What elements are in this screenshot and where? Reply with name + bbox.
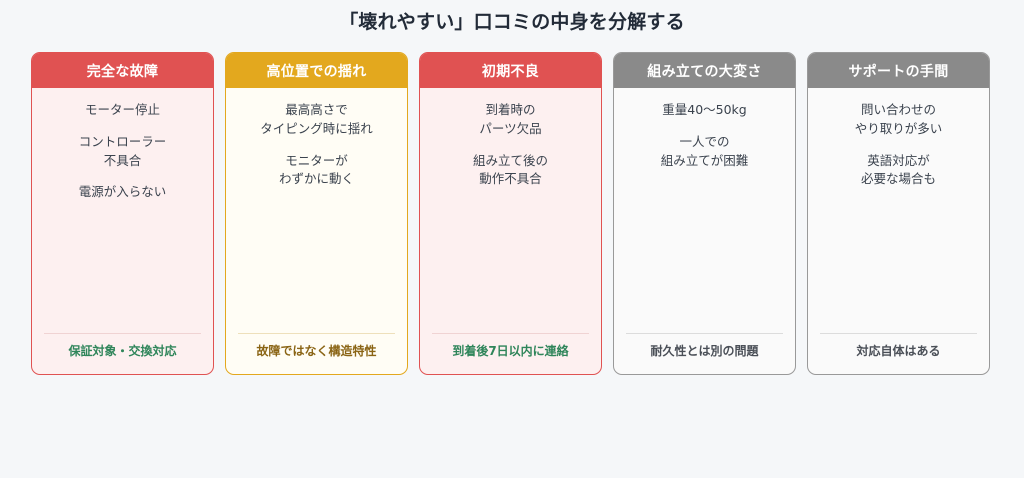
card-footer-note: 故障ではなく構造特性 bbox=[238, 333, 395, 374]
card-header-title: 高位置での揺れ bbox=[226, 53, 407, 88]
page-title: 「壊れやすい」口コミの中身を分解する bbox=[0, 0, 1024, 36]
card-item: 到着時の パーツ欠品 bbox=[479, 101, 541, 139]
category-card[interactable]: 完全な故障モーター停止コントローラー 不具合電源が入らない保証対象・交換対応 bbox=[31, 52, 214, 375]
card-body: 到着時の パーツ欠品組み立て後の 動作不具合 bbox=[420, 88, 601, 333]
card-header-title: 組み立ての大変さ bbox=[614, 53, 795, 88]
card-item: 英語対応が 必要な場合も bbox=[861, 152, 936, 190]
category-card[interactable]: サポートの手間問い合わせの やり取りが多い英語対応が 必要な場合も対応自体はある bbox=[807, 52, 990, 375]
card-item: モーター停止 bbox=[85, 101, 160, 120]
card-item: 一人での 組み立てが困難 bbox=[661, 133, 749, 171]
card-header-title: 初期不良 bbox=[420, 53, 601, 88]
card-item: コントローラー 不具合 bbox=[79, 133, 167, 171]
category-card[interactable]: 組み立ての大変さ重量40〜50kg一人での 組み立てが困難耐久性とは別の問題 bbox=[613, 52, 796, 375]
card-header-title: 完全な故障 bbox=[32, 53, 213, 88]
card-body: モーター停止コントローラー 不具合電源が入らない bbox=[32, 88, 213, 333]
card-body: 重量40〜50kg一人での 組み立てが困難 bbox=[614, 88, 795, 333]
card-footer-note: 耐久性とは別の問題 bbox=[626, 333, 783, 374]
category-card-row: 完全な故障モーター停止コントローラー 不具合電源が入らない保証対象・交換対応高位… bbox=[31, 52, 990, 375]
card-item: 最高高さで タイピング時に揺れ bbox=[260, 101, 373, 139]
card-footer-note: 到着後7日以内に連絡 bbox=[432, 333, 589, 374]
card-item: 重量40〜50kg bbox=[662, 101, 747, 120]
card-header-title: サポートの手間 bbox=[808, 53, 989, 88]
card-item: 組み立て後の 動作不具合 bbox=[473, 152, 548, 190]
infographic-page: 「壊れやすい」口コミの中身を分解する 完全な故障モーター停止コントローラー 不具… bbox=[0, 0, 1024, 478]
card-body: 問い合わせの やり取りが多い英語対応が 必要な場合も bbox=[808, 88, 989, 333]
card-body: 最高高さで タイピング時に揺れモニターが わずかに動く bbox=[226, 88, 407, 333]
card-footer-note: 対応自体はある bbox=[820, 333, 977, 374]
card-footer-note: 保証対象・交換対応 bbox=[44, 333, 201, 374]
card-item: 問い合わせの やり取りが多い bbox=[855, 101, 943, 139]
card-item: モニターが わずかに動く bbox=[279, 152, 354, 190]
category-card[interactable]: 初期不良到着時の パーツ欠品組み立て後の 動作不具合到着後7日以内に連絡 bbox=[419, 52, 602, 375]
category-card[interactable]: 高位置での揺れ最高高さで タイピング時に揺れモニターが わずかに動く故障ではなく… bbox=[225, 52, 408, 375]
card-item: 電源が入らない bbox=[79, 183, 167, 202]
